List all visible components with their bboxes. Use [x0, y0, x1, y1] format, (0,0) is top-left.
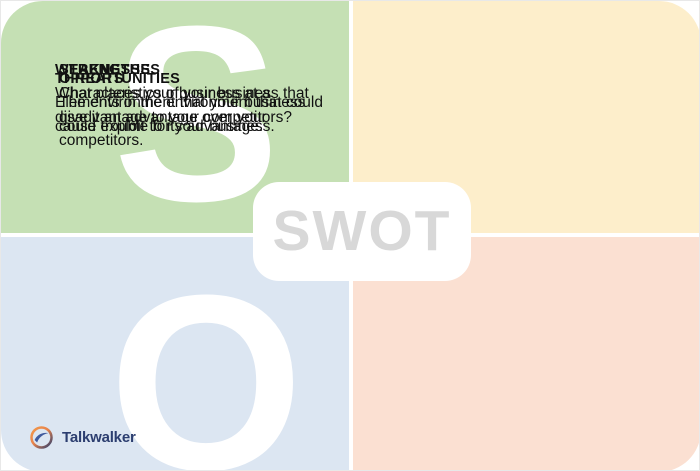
- swot-center-label: SWOT: [273, 203, 452, 260]
- swot-diagram: S STRENGTHS Characteristics of your busi…: [0, 0, 700, 471]
- quadrant-text-threats: THREATS Elements in the environment that…: [55, 68, 325, 138]
- quadrant-heading-threats: THREATS: [55, 68, 325, 90]
- swot-center-badge: SWOT: [253, 182, 471, 281]
- talkwalker-wordmark: Talkwalker: [62, 429, 136, 446]
- watermark-letter-o: O: [109, 258, 303, 471]
- talkwalker-logo: Talkwalker: [29, 425, 136, 450]
- quadrant-body-threats: Elements in the environment that could c…: [55, 91, 325, 138]
- talkwalker-ring-icon: [29, 425, 54, 450]
